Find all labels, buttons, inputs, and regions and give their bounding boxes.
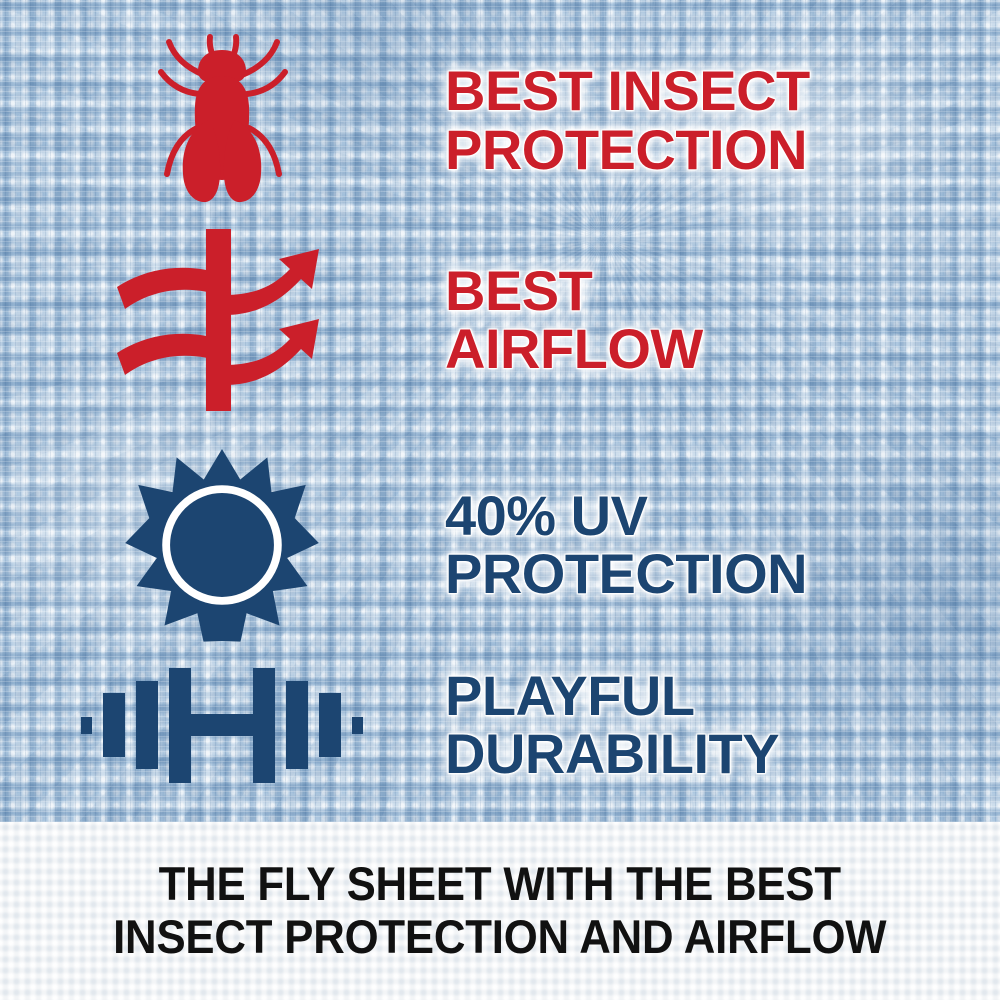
durability-text-cell: PLAYFUL DURABILITY [443,667,1000,783]
feature-label-insect-protection: BEST INSECT PROTECTION [445,62,1000,178]
caption-text: THE FLY SHEET WITH THE BEST INSECT PROTE… [113,858,886,963]
feature-label-uv-protection: 40% UV PROTECTION [445,487,1000,603]
uv-protection-text-cell: 40% UV PROTECTION [443,487,1000,603]
caption-band: THE FLY SHEET WITH THE BEST INSECT PROTE… [0,822,1000,1000]
sun-uv-icon [124,447,320,643]
feature-row-airflow: BEST AIRFLOW [0,225,1000,415]
airflow-text-cell: BEST AIRFLOW [443,262,1000,378]
feature-row-durability: PLAYFUL DURABILITY [0,650,1000,800]
feature-row-uv-protection: 40% UV PROTECTION [0,445,1000,645]
feature-label-durability: PLAYFUL DURABILITY [445,667,1000,783]
airflow-icon-cell [0,225,443,415]
fly-icon-cell [0,28,443,213]
dumbbell-icon-cell [0,660,443,790]
insect-protection-text-cell: BEST INSECT PROTECTION [443,62,1000,178]
airflow-icon [107,225,337,415]
caption-line-1: THE FLY SHEET WITH THE BEST [113,858,886,911]
sun-uv-icon-cell [0,447,443,643]
feature-row-insect-protection: BEST INSECT PROTECTION [0,28,1000,213]
dumbbell-icon [79,660,365,790]
fly-icon [147,28,297,213]
product-feature-infographic: BEST INSECT PROTECTION [0,0,1000,1000]
caption-line-2: INSECT PROTECTION AND AIRFLOW [113,911,886,964]
feature-label-airflow: BEST AIRFLOW [445,262,1000,378]
